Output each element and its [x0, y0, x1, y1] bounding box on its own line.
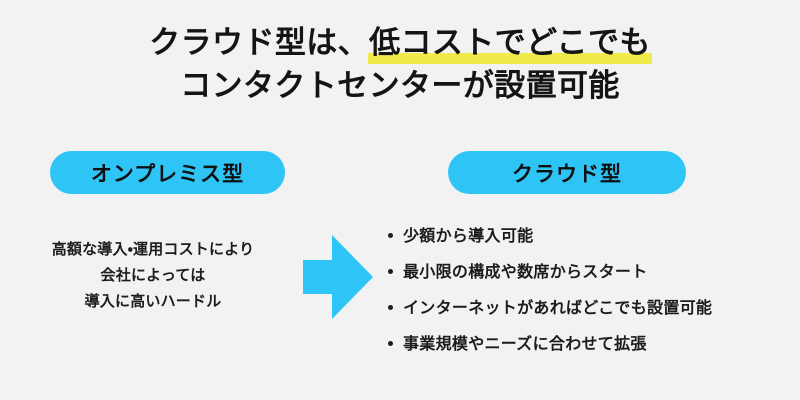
heading-pill-cloud-label: クラウド型 [512, 158, 622, 188]
list-item: 事業規模やニーズに合わせて拡張 [386, 334, 790, 353]
bullet-dot-icon [388, 269, 393, 274]
cloud-benefits-list: 少額から導入可能 最小限の構成や数席からスタート インターネットがあればどこでも… [386, 226, 790, 353]
on-premise-body-text: 高額な導入・運用コストにより 会社によっては 導入に高いハードル [8, 236, 298, 314]
title-line-1: クラウド型は、低コストでどこでも [0, 22, 800, 65]
page-title: クラウド型は、低コストでどこでも コンタクトセンターが設置可能 [0, 22, 800, 108]
title-highlight-low-cost: 低コスト [369, 22, 495, 65]
title-line-2: コンタクトセンターが設置可能 [0, 65, 800, 108]
bullet-dot-icon [388, 233, 393, 238]
heading-pill-on-premise: オンプレミス型 [50, 151, 285, 194]
cloud-benefit-label: 最小限の構成や数席からスタート [403, 262, 648, 281]
cloud-benefit-label: 少額から導入可能 [403, 226, 533, 245]
list-item: 最小限の構成や数席からスタート [386, 262, 790, 281]
right-arrow-icon [303, 235, 373, 319]
on-premise-body-line-1: 高額な導入・運用コストにより [8, 236, 298, 262]
cloud-benefit-label: 事業規模やニーズに合わせて拡張 [403, 334, 647, 353]
list-item: 少額から導入可能 [386, 226, 790, 245]
bullet-dot-icon [388, 341, 393, 346]
list-item: インターネットがあればどこでも設置可能 [386, 298, 790, 317]
title-highlight-anywhere: でどこでも [495, 22, 651, 65]
right-arrow-glyph [303, 235, 373, 319]
on-premise-body-line-2: 会社によっては [8, 262, 298, 288]
slide-canvas: クラウド型は、低コストでどこでも コンタクトセンターが設置可能 オンプレミス型 … [0, 0, 800, 400]
cloud-benefit-label: インターネットがあればどこでも設置可能 [403, 298, 712, 317]
heading-pill-cloud: クラウド型 [448, 151, 686, 194]
heading-pill-on-premise-label: オンプレミス型 [91, 158, 244, 188]
on-premise-body-line-3: 導入に高いハードル [8, 288, 298, 314]
bullet-dot-icon [388, 305, 393, 310]
title-line-1-prefix: クラウド型は、 [149, 25, 369, 61]
